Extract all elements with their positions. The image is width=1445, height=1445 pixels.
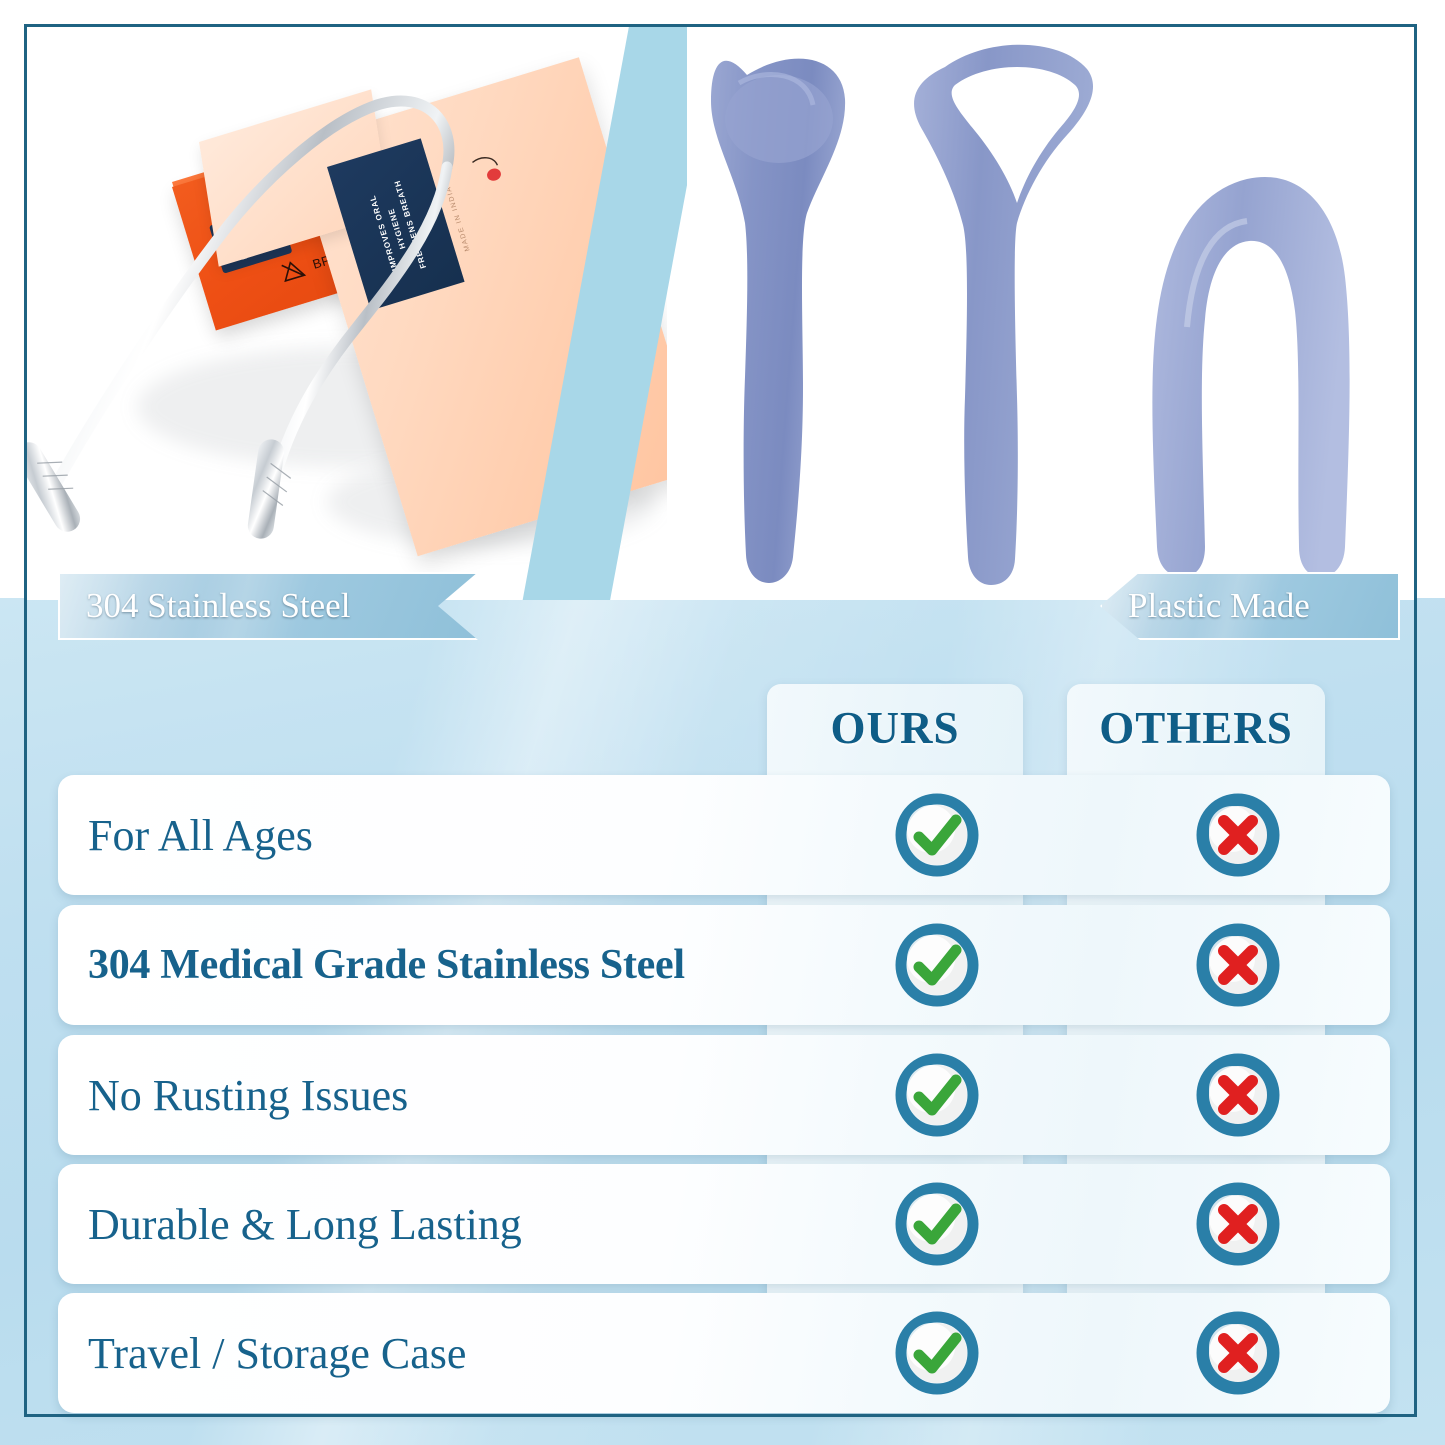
column-header-others: OTHERS — [1067, 694, 1325, 762]
cross-icon — [1196, 923, 1280, 1007]
check-icon — [895, 923, 979, 1007]
cross-icon — [1196, 1182, 1280, 1266]
table-row: Travel / Storage Case — [58, 1293, 1390, 1413]
feature-label: For All Ages — [58, 810, 313, 861]
table-row: For All Ages — [58, 775, 1390, 895]
check-icon — [895, 1053, 979, 1137]
banner-plastic-made-label: Plastic Made — [1128, 586, 1310, 626]
column-header-ours-label: OURS — [830, 702, 959, 754]
cross-icon — [1196, 1311, 1280, 1395]
banner-stainless-steel-label: 304 Stainless Steel — [86, 586, 350, 626]
feature-label: 304 Medical Grade Stainless Steel — [58, 941, 685, 989]
table-row: 304 Medical Grade Stainless Steel — [58, 905, 1390, 1025]
infographic-canvas: PACK OF 1 BPA Free IMPROVES ORAL HYGIENE… — [0, 0, 1445, 1445]
table-row: No Rusting Issues — [58, 1035, 1390, 1155]
check-icon — [895, 1182, 979, 1266]
table-row: Durable & Long Lasting — [58, 1164, 1390, 1284]
column-header-others-label: OTHERS — [1099, 702, 1293, 754]
cross-icon — [1196, 1053, 1280, 1137]
feature-label: Durable & Long Lasting — [58, 1199, 522, 1250]
banner-plastic-made: Plastic Made — [1100, 572, 1400, 640]
column-header-ours: OURS — [767, 694, 1023, 762]
banner-stainless-steel: 304 Stainless Steel — [58, 572, 478, 640]
check-icon — [895, 1311, 979, 1395]
feature-label: Travel / Storage Case — [58, 1328, 466, 1379]
comparison-table: OURS OTHERS For All Ages 304 Medical Gra — [0, 0, 1445, 1445]
check-icon — [895, 793, 979, 877]
feature-label: No Rusting Issues — [58, 1070, 408, 1121]
cross-icon — [1196, 793, 1280, 877]
